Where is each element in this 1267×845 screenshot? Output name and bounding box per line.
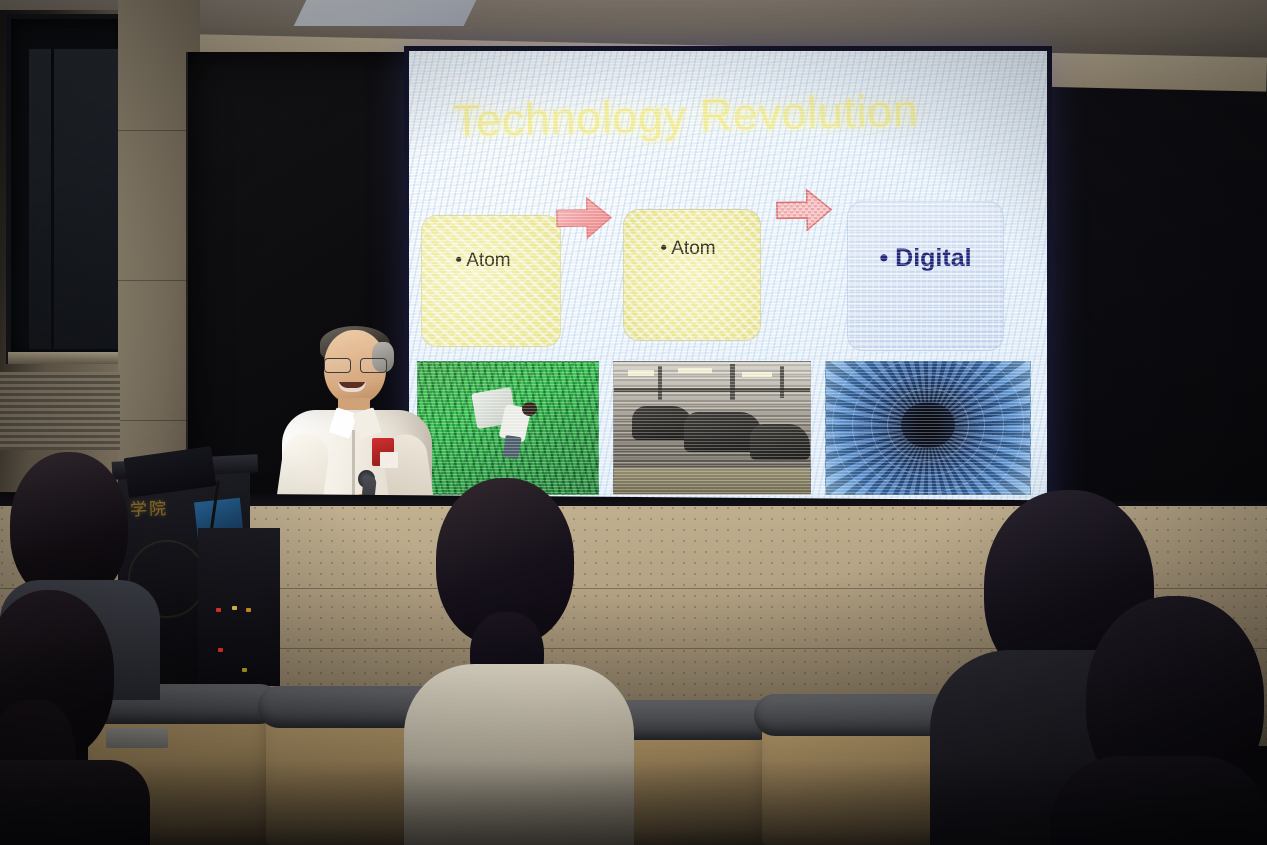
rack-led [218,648,223,652]
seat-plate [106,728,168,748]
window-glass [29,49,121,349]
ceiling-light-panel [294,0,477,26]
glasses-lens-right [360,358,387,373]
rack-led [242,668,247,672]
slide-box-digital: • Digital [847,201,1004,351]
factory-lamp [678,368,712,373]
slide-title: Technology Revolution [452,83,1013,148]
slide-box-atom-2: • Atom [623,209,761,341]
window-sill [8,352,126,364]
rack-led [232,606,237,610]
presenter-smile [338,382,366,392]
industry-photo [613,361,811,495]
factory-beam [730,364,735,400]
arrow-right-icon-1 [555,194,614,241]
arrow-right-icon-2 [775,186,834,233]
factory-lamp [742,372,772,377]
slide-box-atom-1-label: • Atom [455,250,510,272]
farmer-legs [502,435,521,459]
slide-box-atom-1: • Atom [421,215,561,347]
slide-box-digital-label: • Digital [879,244,971,273]
presentation-slide[interactable]: Technology Revolution • Atom • Atom [409,51,1047,511]
av-equipment-rack[interactable] [198,528,280,686]
factory-floor [614,468,810,494]
wall-vent [0,372,120,450]
podium-logo: 学院 [130,493,209,522]
digital-photo [825,361,1031,495]
name-badge-card [380,452,398,468]
farmer-head [522,402,537,416]
rack-led [246,608,251,612]
lecture-hall-scene: Technology Revolution • Atom • Atom [0,0,1267,845]
rack-led [216,608,221,612]
binary-tunnel-center [901,402,955,448]
factory-beam [780,366,784,398]
factory-lamp [628,370,654,376]
car-body [750,424,810,460]
slide-box-atom-2-label: • Atom [660,238,715,260]
window-mullion [51,49,54,349]
window-frame [6,14,132,364]
agriculture-photo [417,361,599,495]
glasses-lens-left [324,358,351,373]
glasses-icon [324,358,386,371]
foreground-shadow [0,760,1267,845]
factory-beam [658,366,662,400]
